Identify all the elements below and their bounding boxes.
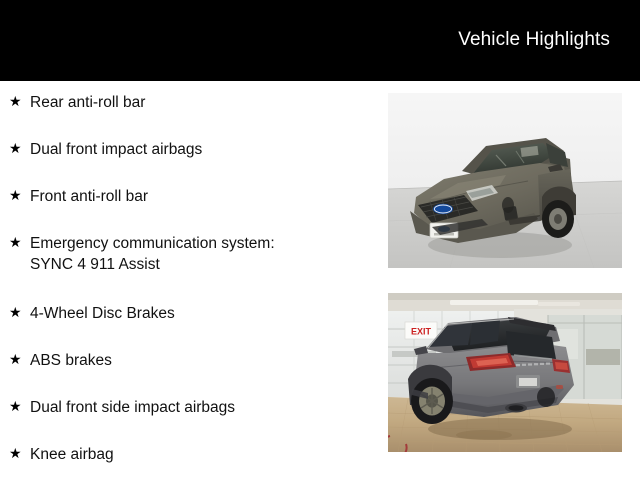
exit-sign-label: EXIT bbox=[411, 327, 432, 337]
list-item-label: Emergency communication system: SYNC 4 9… bbox=[30, 222, 372, 275]
list-item-label: Rear anti-roll bar bbox=[30, 81, 372, 113]
page-title: Vehicle Highlights bbox=[458, 28, 610, 52]
vehicle-rear-image: EXIT bbox=[388, 293, 622, 452]
list-item-label: Knee airbag bbox=[30, 433, 372, 465]
list-item: ★ ABS brakes bbox=[0, 339, 380, 386]
vehicle-photo-front[interactable] bbox=[388, 93, 622, 268]
list-item: ★ Dual front side impact airbags bbox=[0, 386, 380, 433]
star-bullet-icon: ★ bbox=[9, 94, 22, 108]
list-item: ★ Front anti-roll bar bbox=[0, 175, 380, 222]
star-bullet-icon: ★ bbox=[9, 141, 22, 155]
list-item-label: Dual front side impact airbags bbox=[30, 386, 372, 418]
list-item: ★ Dual front impact airbags bbox=[0, 128, 380, 175]
header-bar: Vehicle Highlights bbox=[0, 0, 640, 81]
star-bullet-icon: ★ bbox=[9, 399, 22, 413]
list-item: ★ Rear anti-roll bar bbox=[0, 81, 380, 128]
list-item-label: ABS brakes bbox=[30, 339, 372, 371]
star-bullet-icon: ★ bbox=[9, 188, 22, 202]
vehicle-highlights-list: ★ Rear anti-roll bar ★ Dual front impact… bbox=[0, 81, 380, 480]
list-item: ★ 4-Wheel Disc Brakes bbox=[0, 292, 380, 339]
list-item-label: Front anti-roll bar bbox=[30, 175, 372, 207]
vehicle-photo-rear[interactable]: EXIT bbox=[388, 293, 622, 452]
star-bullet-icon: ★ bbox=[9, 305, 22, 319]
list-item-label: 4-Wheel Disc Brakes bbox=[30, 292, 372, 324]
list-item-label: Dual front impact airbags bbox=[30, 128, 372, 160]
list-item: ★ Emergency communication system: SYNC 4… bbox=[0, 222, 380, 292]
star-bullet-icon: ★ bbox=[9, 235, 22, 249]
vehicle-front-image bbox=[388, 93, 622, 268]
star-bullet-icon: ★ bbox=[9, 446, 22, 460]
list-item: ★ Knee airbag bbox=[0, 433, 380, 480]
star-bullet-icon: ★ bbox=[9, 352, 22, 366]
